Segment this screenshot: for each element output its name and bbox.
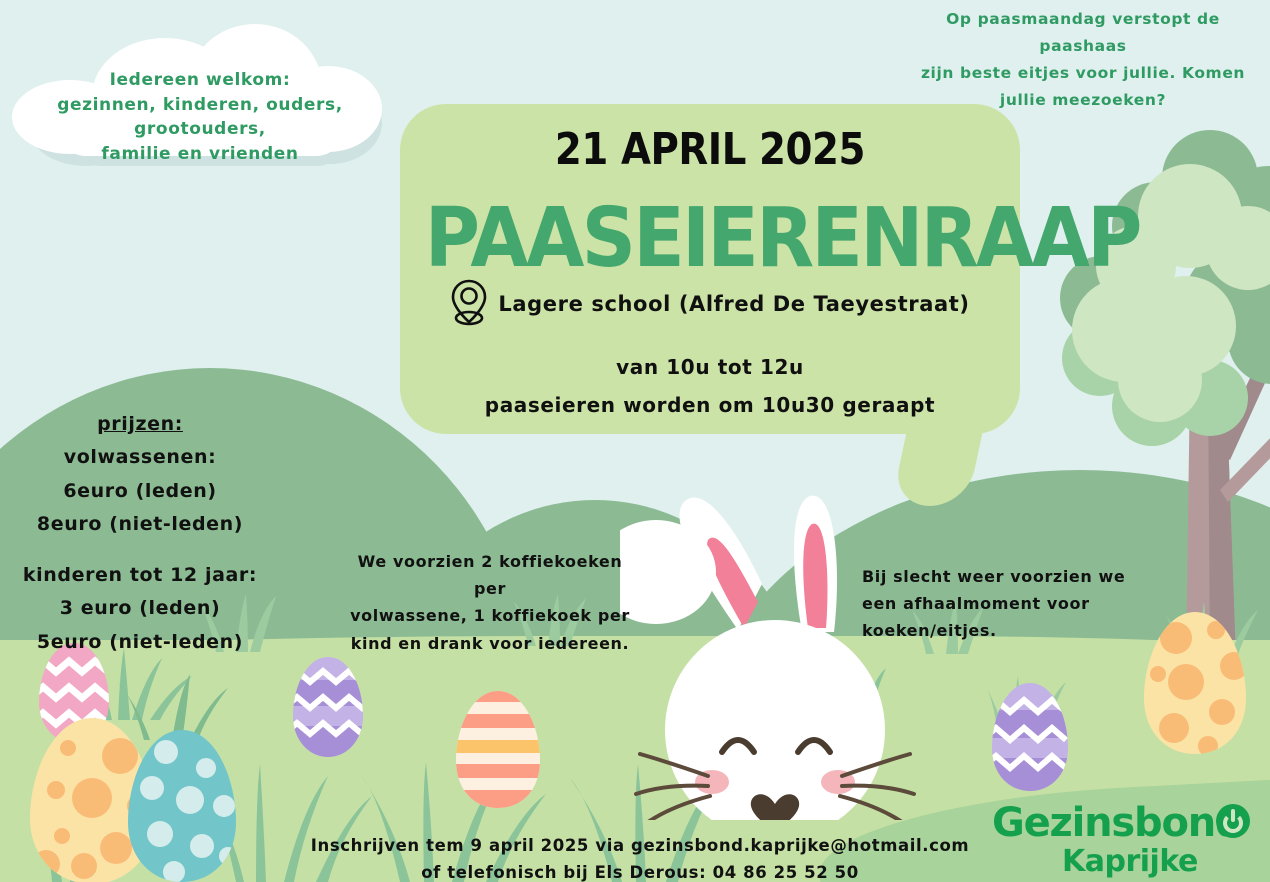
catering-line-2: volwassene, 1 koffiekoek per xyxy=(340,602,640,629)
prices-adults-nonmember: 8euro (niet-leden) xyxy=(0,508,280,541)
weather-line-2: een afhaalmoment voor koeken/eitjes. xyxy=(862,590,1202,644)
intro-line-1: Op paasmaandag verstopt de paashaas xyxy=(900,6,1266,60)
weather-line-1: Bij slecht weer voorzien we xyxy=(862,563,1202,590)
easter-event-poster: 21 APRIL 2025 PAASEIERENRAAP Lagere scho… xyxy=(0,0,1270,882)
logo-chapter: Kaprijke xyxy=(1062,844,1198,879)
catering-line-3: kind en drank voor iedereen. xyxy=(340,630,640,657)
event-time-block: van 10u tot 12u paaseieren worden om 10u… xyxy=(400,348,1020,424)
bunny-ear-right xyxy=(794,496,837,632)
tree-foliage xyxy=(1060,130,1270,446)
signup-line-1: Inschrijven tem 9 april 2025 via gezinsb… xyxy=(280,832,1000,859)
prices-adults-label: volwassenen: xyxy=(0,441,280,474)
location-pin-icon xyxy=(450,278,488,330)
intro-line-3: jullie meezoeken? xyxy=(900,87,1266,114)
prices-heading: prijzen: xyxy=(0,408,280,441)
bunny-head xyxy=(665,620,885,820)
intro-text: Op paasmaandag verstopt de paashaas zijn… xyxy=(900,6,1266,115)
gezinsbond-logo: Gezinsbond Kaprijke xyxy=(992,800,1252,878)
prices-kids-member: 3 euro (leden) xyxy=(0,592,280,625)
prices-kids-nonmember: 5euro (niet-leden) xyxy=(0,626,280,659)
location-row: Lagere school (Alfred De Taeyestraat) xyxy=(400,278,1020,330)
intro-line-2: zijn beste eitjes voor jullie. Komen xyxy=(900,60,1266,87)
welcome-line-1: Iedereen welkom: xyxy=(10,68,390,93)
prices-spacer xyxy=(0,541,280,559)
prices-adults-member: 6euro (leden) xyxy=(0,475,280,508)
welcome-line-3: familie en vrienden xyxy=(10,142,390,167)
egg-purple-chevron-left xyxy=(290,654,366,764)
bad-weather-note: Bij slecht weer voorzien we een afhaalmo… xyxy=(862,563,1202,645)
signup-line-2: of telefonisch bij Els Derous: 04 86 25 … xyxy=(280,859,1000,882)
logo-name: Gezinsbond xyxy=(992,800,1242,846)
gezinsbond-power-icon xyxy=(1216,804,1250,838)
egg-purple-chevron-right xyxy=(988,680,1072,798)
egg-teal-dots xyxy=(124,726,240,882)
time-line-1: van 10u tot 12u xyxy=(400,348,1020,386)
time-line-2: paaseieren worden om 10u30 geraapt xyxy=(400,386,1020,424)
easter-bunny-illustration xyxy=(620,480,930,820)
welcome-line-2: gezinnen, kinderen, ouders, grootouders, xyxy=(10,93,390,142)
prices-block: prijzen: volwassenen: 6euro (leden) 8eur… xyxy=(0,408,280,659)
egg-coral-stripes xyxy=(452,688,544,816)
catering-note: We voorzien 2 koffiekoeken per volwassen… xyxy=(340,548,640,657)
event-date: 21 APRIL 2025 xyxy=(437,118,983,182)
location-text: Lagere school (Alfred De Taeyestraat) xyxy=(498,289,969,319)
signup-info: Inschrijven tem 9 april 2025 via gezinsb… xyxy=(280,832,1000,882)
welcome-text: Iedereen welkom: gezinnen, kinderen, oud… xyxy=(10,68,390,167)
prices-kids-label: kinderen tot 12 jaar: xyxy=(0,559,280,592)
catering-line-1: We voorzien 2 koffiekoeken per xyxy=(340,548,640,602)
